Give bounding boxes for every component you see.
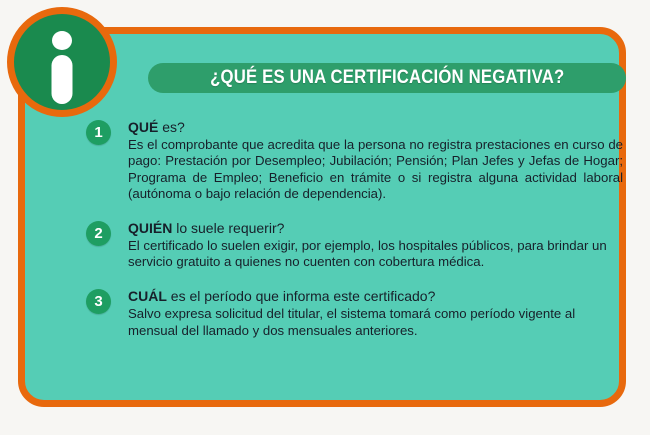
infographic-root: ¿QUÉ ES UNA CERTIFICACIÓN NEGATIVA? 1 QU… <box>0 0 650 435</box>
item-number-badge: 2 <box>86 221 111 246</box>
item-heading-rest: lo suele requerir? <box>172 220 284 236</box>
item-paragraph: Es el comprobante que acredita que la pe… <box>128 137 623 203</box>
title-banner: ¿QUÉ ES UNA CERTIFICACIÓN NEGATIVA? <box>148 63 626 93</box>
item-body: CUÁL es el período que informa este cert… <box>128 288 623 339</box>
item-heading-keyword: QUÉ <box>128 119 158 135</box>
item-heading-rest: es? <box>158 119 184 135</box>
list-item: 1 QUÉ es? Es el comprobante que acredita… <box>86 119 616 203</box>
list-item: 3 CUÁL es el período que informa este ce… <box>86 288 616 339</box>
item-heading-keyword: CUÁL <box>128 288 167 304</box>
information-icon-dot <box>52 31 72 50</box>
item-heading-rest: es el período que informa este certifica… <box>167 288 436 304</box>
information-icon-stem <box>52 55 73 104</box>
information-icon <box>7 7 117 117</box>
item-body: QUIÉN lo suele requerir? El certificado … <box>128 220 623 271</box>
item-heading-keyword: QUIÉN <box>128 220 172 236</box>
item-number-badge: 3 <box>86 289 111 314</box>
item-heading: CUÁL es el período que informa este cert… <box>128 288 623 305</box>
items-list: 1 QUÉ es? Es el comprobante que acredita… <box>86 119 616 339</box>
item-paragraph: El certificado lo suelen exigir, por eje… <box>128 238 623 271</box>
list-item: 2 QUIÉN lo suele requerir? El certificad… <box>86 220 616 271</box>
item-heading: QUÉ es? <box>128 119 623 136</box>
page-title: ¿QUÉ ES UNA CERTIFICACIÓN NEGATIVA? <box>210 67 564 89</box>
item-heading: QUIÉN lo suele requerir? <box>128 220 623 237</box>
item-number-badge: 1 <box>86 120 111 145</box>
item-paragraph: Salvo expresa solicitud del titular, el … <box>128 306 623 339</box>
item-body: QUÉ es? Es el comprobante que acredita q… <box>128 119 623 203</box>
